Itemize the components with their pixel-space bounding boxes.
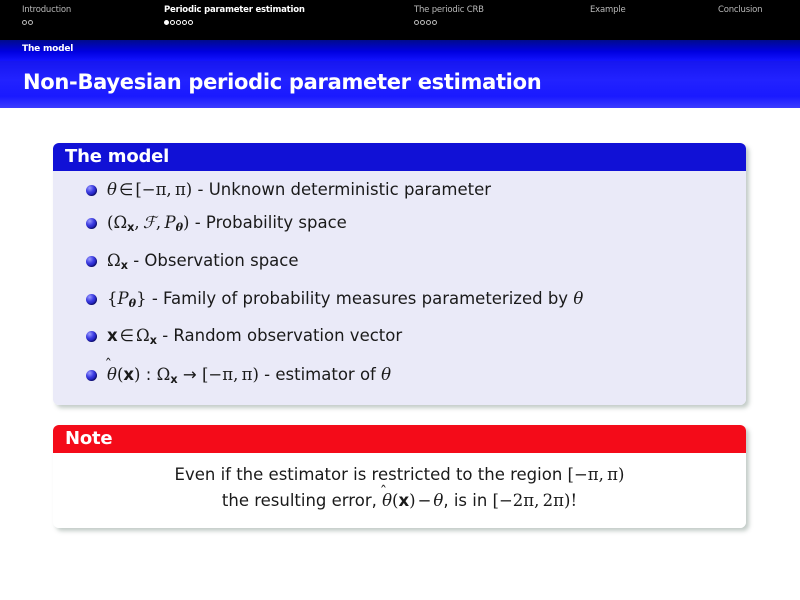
bullet-ball-icon	[86, 331, 97, 342]
nav-dot[interactable]	[182, 20, 187, 25]
nav-item-conclusion[interactable]: Conclusion	[718, 5, 762, 16]
nav-dot[interactable]	[28, 20, 33, 25]
nav-dot-current[interactable]	[164, 20, 169, 25]
list-item-math: θ∈[−π, π)	[107, 180, 192, 199]
bullet-ball-icon	[86, 218, 97, 229]
subsection-label: The model	[22, 44, 73, 54]
list-item-math: x∈Ωx	[107, 326, 157, 345]
nav-slide-dots-introduction[interactable]	[22, 18, 71, 28]
list-item: θ̂(x) : Ωx → [−π, π) - estimator of θ	[63, 364, 736, 391]
nav-dot[interactable]	[176, 20, 181, 25]
frame-title-bar: Non-Bayesian periodic parameter estimati…	[0, 61, 800, 108]
list-item: θ∈[−π, π) - Unknown deterministic parame…	[63, 179, 736, 201]
list-item-label: - estimator of	[264, 365, 381, 384]
list-item: x∈Ωx - Random observation vector	[63, 325, 736, 352]
subsection-bar: The model	[0, 40, 800, 61]
nav-slide-dots-the-periodic-crb[interactable]	[414, 18, 484, 28]
block-the-model: The model θ∈[−π, π) - Unknown determinis…	[53, 143, 746, 405]
nav-dot[interactable]	[414, 20, 419, 25]
nav-dot[interactable]	[420, 20, 425, 25]
list-item-math: Ωx	[107, 251, 128, 270]
block-title-note: Note	[53, 425, 746, 453]
nav-dot[interactable]	[170, 20, 175, 25]
list-item-math: {Pθ}	[107, 289, 147, 308]
note-line-1: Even if the estimator is restricted to t…	[67, 462, 732, 488]
navigation-bar: Introduction Periodic parameter estimati…	[0, 0, 800, 40]
nav-item-label: The periodic CRB	[414, 5, 484, 16]
model-bullet-list: θ∈[−π, π) - Unknown deterministic parame…	[63, 179, 736, 391]
list-item-label: - Family of probability measures paramet…	[152, 289, 573, 308]
list-item-math-trailing: θ	[381, 365, 391, 384]
nav-item-label: Periodic parameter estimation	[164, 5, 305, 16]
list-item-label: - Unknown deterministic parameter	[198, 180, 492, 199]
list-item: (Ωx, ℱ, Pθ) - Probability space	[63, 212, 736, 239]
nav-item-label: Introduction	[22, 5, 71, 16]
nav-item-label: Conclusion	[718, 5, 762, 16]
nav-slide-dots-periodic-parameter-estimation[interactable]	[164, 18, 305, 28]
nav-item-example[interactable]: Example	[590, 5, 625, 16]
note-line-2: the resulting error, θ̂(x)−θ, is in [−2π…	[67, 488, 732, 514]
list-item: Ωx - Observation space	[63, 250, 736, 277]
nav-item-introduction[interactable]: Introduction	[22, 5, 71, 28]
bullet-ball-icon	[86, 185, 97, 196]
nav-dot[interactable]	[22, 20, 27, 25]
nav-item-the-periodic-crb[interactable]: The periodic CRB	[414, 5, 484, 28]
block-note: Note Even if the estimator is restricted…	[53, 425, 746, 528]
bullet-ball-icon	[86, 256, 97, 267]
nav-item-label: Example	[590, 5, 625, 16]
nav-dot[interactable]	[426, 20, 431, 25]
nav-dot[interactable]	[188, 20, 193, 25]
list-item-math-trailing: θ	[573, 289, 583, 308]
list-item: {Pθ} - Family of probability measures pa…	[63, 288, 736, 314]
list-item-math: θ̂(x) : Ωx → [−π, π)	[107, 365, 259, 384]
page-title: Non-Bayesian periodic parameter estimati…	[23, 70, 541, 94]
bullet-ball-icon	[86, 370, 97, 381]
list-item-math: (Ωx, ℱ, Pθ)	[107, 213, 189, 232]
block-body-the-model: θ∈[−π, π) - Unknown deterministic parame…	[53, 171, 746, 405]
nav-item-periodic-parameter-estimation[interactable]: Periodic parameter estimation	[164, 5, 305, 28]
nav-dot[interactable]	[432, 20, 437, 25]
list-item-label: - Observation space	[133, 251, 298, 270]
list-item-label: - Random observation vector	[162, 326, 402, 345]
block-title-the-model: The model	[53, 143, 746, 171]
block-body-note: Even if the estimator is restricted to t…	[53, 453, 746, 528]
bullet-ball-icon	[86, 294, 97, 305]
list-item-label: - Probability space	[195, 213, 347, 232]
